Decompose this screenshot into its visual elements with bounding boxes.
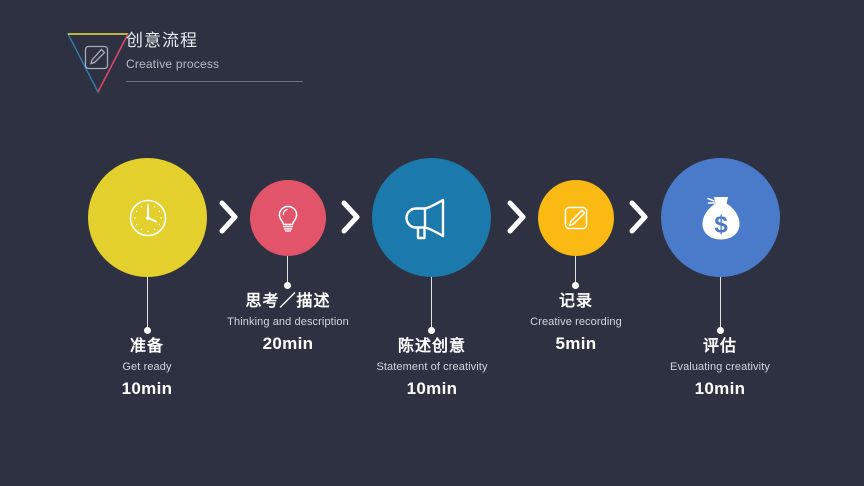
step-5-duration: 10min — [620, 377, 820, 401]
step-1-circle[interactable] — [88, 158, 207, 277]
chevron-right-icon-4 — [626, 197, 652, 237]
step-1-title-en: Get ready — [47, 359, 247, 375]
step-4-connector-dot — [572, 282, 579, 289]
step-3-duration: 10min — [331, 377, 533, 401]
step-2-title-en: Thinking and description — [182, 314, 394, 330]
step-1-connector-dot — [144, 327, 151, 334]
money-bag-icon: $ — [695, 191, 747, 245]
clock-icon — [124, 194, 172, 242]
step-4-connector — [575, 256, 576, 284]
step-3-circle[interactable] — [372, 158, 491, 277]
megaphone-icon — [403, 192, 461, 244]
step-1-duration: 10min — [47, 377, 247, 401]
chevron-right-icon-3 — [504, 197, 530, 237]
step-3-title-en: Statement of creativity — [331, 359, 533, 375]
lightbulb-icon — [271, 201, 305, 235]
step-2-title-cn: 思考／描述 — [182, 291, 394, 313]
step-2-connector-dot — [284, 282, 291, 289]
step-2-connector — [287, 256, 288, 284]
step-5-label: 评估 Evaluating creativity 10min — [620, 336, 820, 401]
step-3-connector-dot — [428, 327, 435, 334]
svg-text:$: $ — [714, 211, 728, 238]
step-5-circle[interactable]: $ — [661, 158, 780, 277]
chevron-right-icon-1 — [216, 197, 242, 237]
step-5-connector — [720, 277, 721, 329]
step-4-circle[interactable] — [538, 180, 614, 256]
step-4-title-cn: 记录 — [476, 291, 676, 313]
process-flow: 准备 Get ready 10min 思考／描述 — [0, 0, 864, 486]
step-2-circle[interactable] — [250, 180, 326, 256]
step-3-connector — [431, 277, 432, 329]
chevron-right-icon-2 — [338, 197, 364, 237]
step-4-title-en: Creative recording — [476, 314, 676, 330]
step-5-title-cn: 评估 — [620, 336, 820, 358]
step-5-connector-dot — [717, 327, 724, 334]
step-1-connector — [147, 277, 148, 329]
edit-pencil-icon — [559, 201, 593, 235]
step-5-title-en: Evaluating creativity — [620, 359, 820, 375]
